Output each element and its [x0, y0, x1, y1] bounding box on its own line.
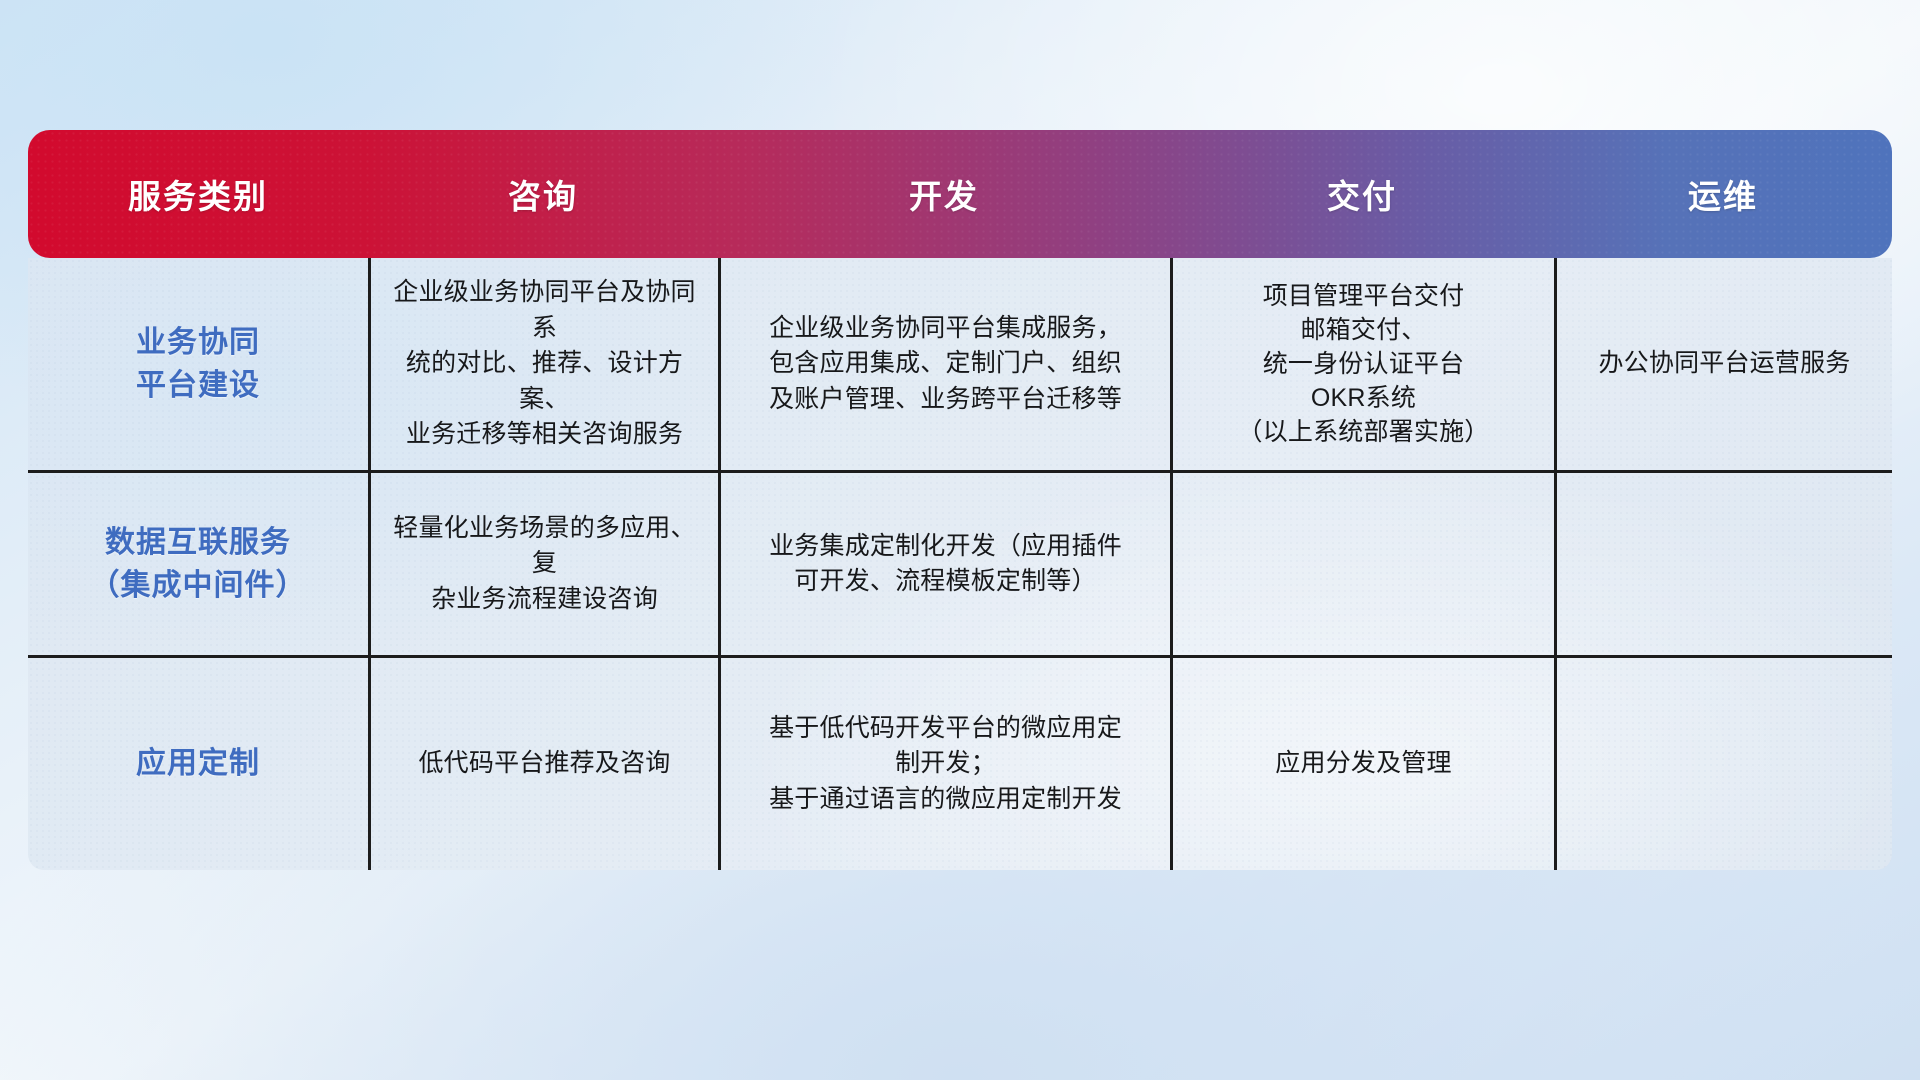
cell-text: 办公协同平台运营服务 — [1598, 346, 1850, 382]
cell-consulting: 轻量化业务场景的多应用、复 杂业务流程建设咨询 — [368, 473, 718, 655]
table-row: 应用定制 低代码平台推荐及咨询 基于低代码开发平台的微应用定 制开发； 基于通过… — [28, 655, 1892, 870]
cell-operations: 办公协同平台运营服务 — [1554, 258, 1892, 470]
column-header-operations: 运维 — [1554, 170, 1892, 218]
category-text: 数据互联服务 （集成中间件） — [90, 521, 307, 608]
cell-text: 基于低代码开发平台的微应用定 制开发； 基于通过语言的微应用定制开发 — [769, 711, 1122, 818]
cell-text: 轻量化业务场景的多应用、复 杂业务流程建设咨询 — [385, 511, 704, 618]
table-header-bar: 服务类别 咨询 开发 交付 运维 — [28, 130, 1892, 258]
table-row: 数据互联服务 （集成中间件） 轻量化业务场景的多应用、复 杂业务流程建设咨询 业… — [28, 470, 1892, 655]
cell-text: 企业级业务协同平台及协同系 统的对比、推荐、设计方案、 业务迁移等相关咨询服务 — [385, 275, 704, 453]
slide-canvas: 服务类别 咨询 开发 交付 运维 业务协同 平台建设 企业级业务协同平台及协同系… — [0, 0, 1920, 1080]
cell-development: 业务集成定制化开发（应用插件 可开发、流程模板定制等） — [718, 473, 1170, 655]
cell-text: 低代码平台推荐及咨询 — [418, 746, 670, 782]
cell-delivery — [1170, 473, 1554, 655]
cell-text: 应用分发及管理 — [1275, 746, 1451, 782]
column-header-consulting: 咨询 — [368, 170, 718, 218]
cell-delivery: 项目管理平台交付 邮箱交付、 统一身份认证平台 OKR系统 （以上系统部署实施） — [1170, 258, 1554, 470]
cell-operations — [1554, 658, 1892, 870]
cell-consulting: 企业级业务协同平台及协同系 统的对比、推荐、设计方案、 业务迁移等相关咨询服务 — [368, 258, 718, 470]
cell-development: 企业级业务协同平台集成服务， 包含应用集成、定制门户、组织 及账户管理、业务跨平… — [718, 258, 1170, 470]
table-body: 业务协同 平台建设 企业级业务协同平台及协同系 统的对比、推荐、设计方案、 业务… — [28, 258, 1892, 870]
cell-delivery: 应用分发及管理 — [1170, 658, 1554, 870]
column-header-development: 开发 — [718, 170, 1170, 218]
cell-text: 项目管理平台交付 邮箱交付、 统一身份认证平台 OKR系统 （以上系统部署实施） — [1237, 279, 1489, 449]
cell-text: 企业级业务协同平台集成服务， 包含应用集成、定制门户、组织 及账户管理、业务跨平… — [769, 311, 1122, 418]
row-category-label: 业务协同 平台建设 — [28, 258, 368, 470]
cell-consulting: 低代码平台推荐及咨询 — [368, 658, 718, 870]
category-text: 应用定制 — [136, 742, 260, 786]
row-category-label: 数据互联服务 （集成中间件） — [28, 473, 368, 655]
service-matrix-table: 服务类别 咨询 开发 交付 运维 业务协同 平台建设 企业级业务协同平台及协同系… — [28, 130, 1892, 870]
row-category-label: 应用定制 — [28, 658, 368, 870]
table-row: 业务协同 平台建设 企业级业务协同平台及协同系 统的对比、推荐、设计方案、 业务… — [28, 258, 1892, 470]
cell-development: 基于低代码开发平台的微应用定 制开发； 基于通过语言的微应用定制开发 — [718, 658, 1170, 870]
table-header-row: 服务类别 咨询 开发 交付 运维 — [28, 130, 1892, 258]
category-text: 业务协同 平台建设 — [136, 321, 260, 408]
column-header-service-category: 服务类别 — [28, 170, 368, 218]
cell-text: 业务集成定制化开发（应用插件 可开发、流程模板定制等） — [769, 529, 1122, 600]
cell-operations — [1554, 473, 1892, 655]
column-header-delivery: 交付 — [1170, 170, 1554, 218]
